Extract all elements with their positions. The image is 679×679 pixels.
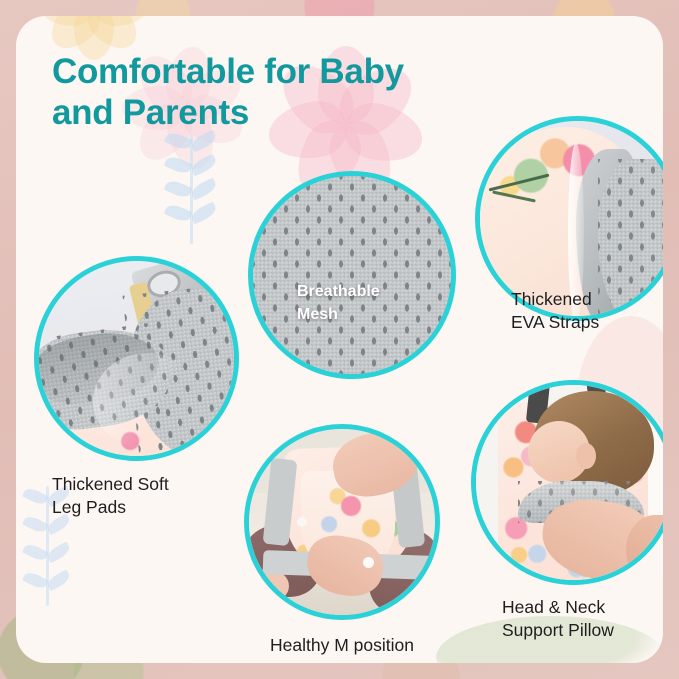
feature-circle-healthy-m-position[interactable] <box>244 424 440 620</box>
breathable-mesh-overlay-label: Breathable Mesh <box>297 280 380 326</box>
caption-head-neck-support-pillow: Head & Neck Support Pillow <box>502 596 614 643</box>
eva-strap-photo <box>480 121 663 316</box>
infographic-card: Comfortable for Baby and Parents Breatha… <box>16 16 663 663</box>
caption-thickened-eva-straps: Thickened EVA Straps <box>511 288 599 335</box>
feature-circle-thickened-soft-leg-pads[interactable] <box>34 256 239 461</box>
decorative-outer-frame: Comfortable for Baby and Parents Breatha… <box>0 0 679 679</box>
feature-circle-head-neck-support-pillow[interactable] <box>471 380 663 585</box>
leg-pads-photo <box>39 261 234 456</box>
support-pillow-photo <box>476 385 663 580</box>
page-title: Comfortable for Baby and Parents <box>52 51 404 134</box>
caption-healthy-m-position: Healthy M position <box>222 634 462 657</box>
m-position-photo <box>249 429 435 615</box>
feature-circle-breathable-mesh[interactable]: Breathable Mesh <box>248 171 456 379</box>
breathable-mesh-photo <box>253 176 451 374</box>
caption-thickened-soft-leg-pads: Thickened Soft Leg Pads <box>52 473 169 520</box>
